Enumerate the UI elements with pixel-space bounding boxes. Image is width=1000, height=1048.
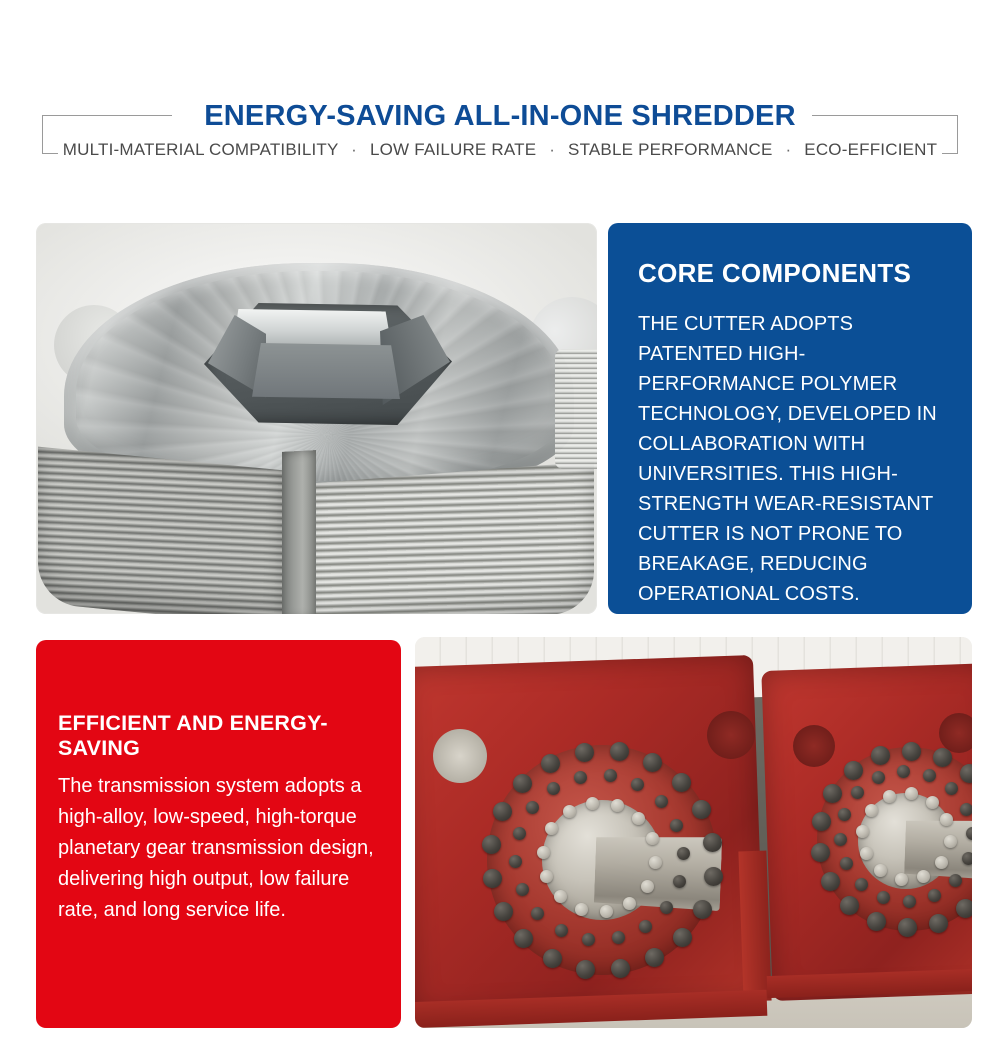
flange-bolt [646, 832, 659, 845]
flange-bolt [844, 761, 863, 780]
flange-bolt [513, 827, 526, 840]
core-components-body: THE CUTTER ADOPTS PATENTED HIGH-PERFORMA… [638, 309, 945, 609]
feature-tagline-2: LOW FAILURE RATE [370, 140, 536, 159]
tagline-separator-icon: · [785, 140, 791, 159]
flange-bolt [575, 743, 594, 762]
flange-bolt [935, 856, 948, 869]
flange-bolt [673, 928, 692, 947]
efficient-energy-saving-heading: EFFICIENT AND ENERGY-SAVING [58, 711, 401, 761]
flange-bolt [639, 920, 652, 933]
flange-bolt [655, 795, 668, 808]
flange-bolt [483, 869, 502, 888]
flange-bolt [903, 895, 916, 908]
flange-bolt [672, 773, 691, 792]
flange-bolt [555, 924, 568, 937]
page-header: ENERGY-SAVING ALL-IN-ONE SHREDDER MULTI-… [0, 44, 1000, 170]
flange-bolt [933, 748, 952, 767]
flange-bolt [867, 912, 886, 931]
flange-bolt [895, 873, 908, 886]
feature-tagline-3: STABLE PERFORMANCE [568, 140, 773, 159]
flange-bolt [923, 769, 936, 782]
blade-stack-left [38, 447, 294, 614]
efficient-energy-saving-body: The transmission system adopts a high-al… [58, 771, 379, 926]
bore-floor [252, 343, 400, 399]
flange-bolt [949, 874, 962, 887]
page-title: ENERGY-SAVING ALL-IN-ONE SHREDDER [0, 100, 1000, 133]
flange-bolt [586, 797, 599, 810]
feature-tagline-1: MULTI-MATERIAL COMPATIBILITY [63, 140, 338, 159]
flange-bolt [811, 843, 830, 862]
flange-bolt [962, 852, 972, 865]
blade-stack-step [282, 450, 316, 614]
flange-bolt [660, 901, 673, 914]
flange-bolt [898, 918, 917, 937]
flange-bolt [537, 846, 550, 859]
output-shaft-right [904, 817, 972, 881]
core-components-heading: CORE COMPONENTS [638, 258, 945, 289]
flange-bolt [944, 835, 957, 848]
core-components-card: CORE COMPONENTS THE CUTTER ADOPTS PATENT… [608, 223, 972, 614]
flange-bolt [641, 880, 654, 893]
flange-bolt [883, 790, 896, 803]
flange-bolt [855, 878, 868, 891]
flange-bolt [821, 872, 840, 891]
flange-bolt [643, 753, 662, 772]
flange-bolt [926, 796, 939, 809]
blade-stack-far-right [555, 349, 597, 469]
flange-bolt [612, 931, 625, 944]
flange-bolt [576, 960, 595, 979]
flange-bolt [541, 754, 560, 773]
flange-bolt [563, 805, 576, 818]
flange-bolt [632, 812, 645, 825]
flange-bolt [960, 803, 972, 816]
feature-tagline-list: MULTI-MATERIAL COMPATIBILITY · LOW FAILU… [0, 140, 1000, 160]
flange-bolt [677, 847, 690, 860]
flange-bolt [945, 782, 958, 795]
product-feature-page: ENERGY-SAVING ALL-IN-ONE SHREDDER MULTI-… [0, 0, 1000, 1048]
feature-tagline-4: ECO-EFFICIENT [804, 140, 937, 159]
flange-bolt [929, 914, 948, 933]
tagline-separator-icon: · [351, 140, 357, 159]
flange-bolt [928, 889, 941, 902]
cutter-photo [36, 223, 597, 614]
flange-bolt [704, 867, 723, 886]
blade-stack-right [294, 461, 594, 614]
flange-bolt [834, 833, 847, 846]
flange-bolt [865, 804, 878, 817]
efficient-energy-saving-card: EFFICIENT AND ENERGY-SAVING The transmis… [36, 640, 401, 1028]
mounting-hole-left-2 [707, 711, 755, 759]
flange-bolt [645, 948, 664, 967]
flange-bolt [516, 883, 529, 896]
flange-bolt [543, 949, 562, 968]
flange-bolt [494, 902, 513, 921]
gearbox-photo [415, 637, 972, 1028]
flange-bolt [956, 899, 972, 918]
flange-bolt [902, 742, 921, 761]
flange-bolt [604, 769, 617, 782]
tagline-separator-icon: · [549, 140, 555, 159]
mounting-hole-right-1 [793, 725, 835, 767]
flange-bolt [838, 808, 851, 821]
flange-bolt [860, 847, 873, 860]
flange-bolt [493, 802, 512, 821]
flange-bolt [482, 835, 501, 854]
mounting-hole-right-2 [939, 713, 972, 753]
mounting-hole-left-1 [433, 729, 487, 783]
flange-bolt [611, 799, 624, 812]
flange-bolt [917, 870, 930, 883]
